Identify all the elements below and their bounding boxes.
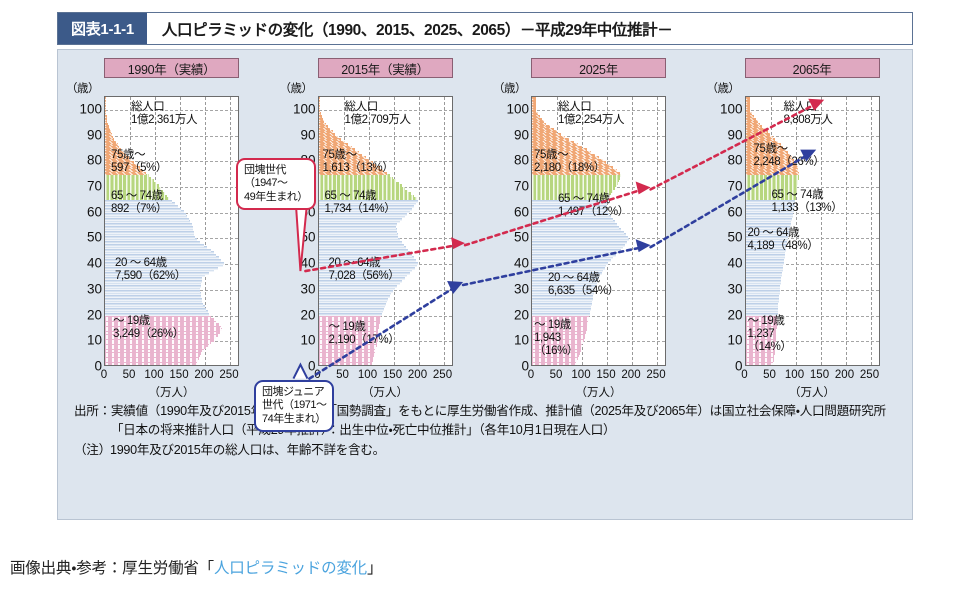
- pyramid-age-bar: [746, 128, 766, 131]
- pyramid-age-bar: [105, 341, 211, 344]
- caption-suffix: 」: [367, 560, 382, 577]
- x-axis-unit: （万人）: [149, 384, 195, 400]
- pyramid-age-bar: [746, 138, 776, 141]
- pyramid-age-bar: [532, 184, 617, 187]
- pyramid-age-bar: [319, 123, 326, 126]
- pyramid-age-bar: [319, 238, 400, 241]
- pyramid-age-bar: [105, 182, 156, 185]
- pyramid-age-bar: [105, 118, 107, 121]
- pyramid-age-bar: [746, 254, 785, 257]
- pyramid-age-bar: [319, 354, 375, 357]
- total-population-label: 総人口 8,808万人: [784, 101, 833, 127]
- pyramid-age-bar: [532, 115, 540, 118]
- pyramid-age-bar: [532, 123, 546, 126]
- vertical-gridline: [657, 97, 658, 365]
- x-axis-unit: （万人）: [362, 384, 408, 400]
- x-tick-label: 50: [336, 369, 349, 381]
- y-tick-label: 90: [276, 127, 316, 142]
- y-tick-label: 70: [703, 179, 743, 194]
- pyramid-age-bar: [746, 274, 782, 277]
- pyramid-age-bar: [105, 177, 151, 180]
- pyramid-age-bar: [105, 244, 204, 247]
- y-tick-label: 40: [62, 256, 102, 271]
- age-group-label: 20 ～ 64歳 4,189（48%）: [748, 227, 819, 253]
- note-label: （注）: [74, 441, 110, 460]
- source-text: 実績値（1990年及び2015年）は総務省「国勢調査」をもとに厚生労働省作成、推…: [111, 402, 898, 440]
- pyramid-age-bar: [532, 107, 536, 110]
- y-tick-label: 40: [276, 256, 316, 271]
- pyramid-age-bar: [319, 112, 322, 115]
- pyramid-age-bar: [746, 218, 793, 221]
- pyramid-age-bar: [746, 298, 779, 301]
- pyramid-age-bar: [746, 295, 780, 298]
- x-tick-label: 250: [433, 369, 452, 381]
- pyramid-age-bar: [319, 241, 402, 244]
- pyramid-panel: 2025年（歳）1009080706050403020100総人口 1億2,25…: [485, 56, 699, 401]
- pyramid-age-bar: [532, 143, 578, 146]
- pyramid-age-bar: [532, 246, 623, 249]
- pyramid-age-bar: [319, 233, 398, 236]
- pyramid-age-bar: [532, 120, 544, 123]
- x-axis: 050100150200250（万人）: [531, 369, 666, 403]
- pyramid-age-bar: [532, 112, 538, 115]
- y-tick-label: 100: [703, 101, 743, 116]
- caption-link[interactable]: 人口ピラミッドの変化: [214, 560, 367, 577]
- pyramid-age-bar: [532, 105, 536, 108]
- pyramid-age-bar: [105, 128, 110, 131]
- y-tick-label: 10: [489, 333, 529, 348]
- y-tick-label: 20: [62, 307, 102, 322]
- pyramid-age-bar: [319, 305, 385, 308]
- pyramid-age-bar: [319, 292, 392, 295]
- age-group-label: 75歳～ 1,613（13%）: [323, 149, 394, 175]
- pyramid-age-bar: [532, 177, 620, 180]
- horizontal-gridline: [319, 136, 452, 137]
- pyramid-age-bar: [105, 346, 206, 349]
- total-population-label: 総人口 1億2,361万人: [131, 101, 197, 127]
- pyramid-age-bar: [746, 256, 785, 259]
- pyramid-age-bar: [319, 236, 399, 239]
- pyramid-age-bar: [105, 357, 199, 360]
- y-tick-label: 70: [62, 179, 102, 194]
- pyramid-age-bar: [746, 292, 780, 295]
- figure-body: 1990年（実績）（歳）1009080706050403020100総人口 1億…: [57, 49, 913, 520]
- pyramid-age-bar: [319, 120, 325, 123]
- pyramid-age-bar: [105, 290, 200, 293]
- vertical-gridline: [632, 97, 633, 365]
- pyramid-age-bar: [746, 300, 779, 303]
- y-tick-label: 40: [489, 256, 529, 271]
- age-group-label: ～ 19歳 1,237（14%）: [748, 315, 792, 355]
- pyramid-age-bar: [105, 359, 198, 362]
- y-tick-label: 30: [489, 281, 529, 296]
- pyramid-age-bar: [319, 251, 410, 254]
- pyramid-age-bar: [105, 136, 113, 139]
- y-tick-label: 50: [276, 230, 316, 245]
- pyramid-age-bar: [105, 130, 111, 133]
- pyramid-age-bar: [746, 184, 798, 187]
- pyramid-age-bar: [746, 130, 768, 133]
- pyramid-age-bar: [746, 172, 800, 175]
- pyramid-age-bar: [532, 231, 624, 234]
- y-tick-label: 30: [62, 281, 102, 296]
- pyramid-age-bar: [746, 97, 750, 100]
- vertical-gridline: [821, 97, 822, 365]
- vertical-gridline: [230, 97, 231, 365]
- pyramid-age-bar: [746, 359, 774, 362]
- pyramid-age-bar: [532, 308, 591, 311]
- pyramid-age-bar: [532, 182, 618, 185]
- y-tick-label: 100: [276, 101, 316, 116]
- total-population-label: 総人口 1億2,709万人: [345, 101, 411, 127]
- pyramid-age-bar: [746, 120, 758, 123]
- pyramid-age-bar: [532, 226, 619, 229]
- pyramid-age-bar: [746, 285, 781, 288]
- panel-header-2: 2015年（実績）: [318, 58, 453, 78]
- pyramid-age-bar: [105, 352, 201, 355]
- y-tick-label: 90: [489, 127, 529, 142]
- y-tick-label: 50: [703, 230, 743, 245]
- pyramid-age-bar: [105, 123, 108, 126]
- pyramid-age-bar: [746, 107, 750, 110]
- pyramid-age-bar: [319, 102, 321, 105]
- x-tick-label: 100: [358, 369, 377, 381]
- pyramid-age-bar: [532, 256, 613, 259]
- pyramid-age-bar: [319, 223, 398, 226]
- pyramid-age-bar: [319, 179, 397, 182]
- pyramid-age-bar: [319, 105, 321, 108]
- x-tick-label: 150: [383, 369, 402, 381]
- pyramid-age-bar: [746, 277, 782, 280]
- pyramid-age-bar: [532, 254, 616, 257]
- y-tick-label: 60: [703, 204, 743, 219]
- pyramid-age-bar: [319, 177, 394, 180]
- x-axis: 050100150200250（万人）: [318, 369, 453, 403]
- pyramid-age-bar: [105, 287, 200, 290]
- pyramid-age-bar: [532, 313, 590, 316]
- pyramid-age-bar: [319, 115, 323, 118]
- pyramid-age-bar: [532, 100, 536, 103]
- pyramid-age-bar: [105, 285, 201, 288]
- pyramid-age-bar: [532, 310, 590, 313]
- pyramid-age-bar: [319, 184, 403, 187]
- pyramid-age-bar: [319, 182, 400, 185]
- age-axis-unit: （歳）: [66, 80, 99, 96]
- y-tick-label: 20: [276, 307, 316, 322]
- pyramid-age-bar: [746, 264, 784, 267]
- pyramid-age-bar: [746, 357, 775, 360]
- pyramid-age-bar: [746, 177, 799, 180]
- pyramid-age-bar: [105, 298, 202, 301]
- pyramid-age-bar: [746, 269, 783, 272]
- age-group-label: 75歳～ 2,248（26%）: [754, 143, 825, 169]
- pyramid-age-bar: [532, 223, 617, 226]
- pyramid-age-bar: [532, 228, 621, 231]
- y-axis: 1009080706050403020100: [699, 96, 743, 366]
- x-tick-label: 50: [123, 369, 136, 381]
- pyramid-age-bar: [532, 267, 605, 270]
- y-tick-label: 90: [703, 127, 743, 142]
- age-axis-unit: （歳）: [280, 80, 313, 96]
- pyramid-age-bar: [105, 231, 194, 234]
- pyramid-panel: 2015年（実績）（歳）1009080706050403020100総人口 1億…: [272, 56, 486, 401]
- pyramid-age-bar: [746, 220, 792, 223]
- x-tick-label: 200: [621, 369, 640, 381]
- pyramid-age-bar: [746, 123, 760, 126]
- pyramid-age-bar: [105, 303, 203, 306]
- pyramid-age-bar: [532, 244, 625, 247]
- pyramid-age-bar: [746, 310, 778, 313]
- y-axis: 1009080706050403020100: [485, 96, 529, 366]
- y-axis: 1009080706050403020100: [272, 96, 316, 366]
- y-tick-label: 80: [489, 153, 529, 168]
- pyramid-age-bar: [532, 118, 542, 121]
- x-axis: 050100150200250（万人）: [104, 369, 239, 403]
- pyramid-age-bar: [746, 118, 756, 121]
- pyramid-age-bar: [746, 282, 781, 285]
- pyramid-age-bar: [319, 357, 374, 360]
- vertical-gridline: [419, 97, 420, 365]
- pyramid-age-bar: [105, 308, 206, 311]
- note-text: 1990年及び2015年の総人口は、年齢不詳を含む。: [110, 441, 898, 460]
- pyramid-age-bar: [746, 305, 779, 308]
- pyramid-age-bar: [532, 251, 618, 254]
- x-tick-label: 200: [194, 369, 213, 381]
- x-tick-label: 0: [741, 369, 747, 381]
- pyramid-age-bar: [532, 233, 626, 236]
- source-row: 出所： 実績値（1990年及び2015年）は総務省「国勢調査」をもとに厚生労働省…: [74, 402, 898, 440]
- pyramid-age-bar: [319, 362, 373, 365]
- pyramid-age-bar: [746, 287, 781, 290]
- pyramid-age-bar: [532, 305, 591, 308]
- pyramid-age-bar: [319, 110, 321, 113]
- pyramid-age-bar: [746, 136, 773, 139]
- pyramid-age-bar: [319, 125, 328, 128]
- pyramid-age-bar: [532, 187, 615, 190]
- y-tick-label: 30: [276, 281, 316, 296]
- x-axis: 050100150200250（万人）: [745, 369, 880, 403]
- pyramid-age-bar: [105, 112, 106, 115]
- y-tick-label: 80: [703, 153, 743, 168]
- image-caption: 画像出典・参考：厚生労働省「人口ピラミッドの変化」: [10, 556, 382, 578]
- pyramid-age-bar: [319, 100, 321, 103]
- pyramid-age-bar: [532, 359, 577, 362]
- age-group-label: 65 ～ 74歳 1,734（14%）: [325, 190, 396, 216]
- pyramid-age-bar: [319, 143, 349, 146]
- pyramid-age-bar: [319, 290, 393, 293]
- pyramid-age-bar: [532, 141, 574, 144]
- pyramid-age-bar: [532, 241, 627, 244]
- figure-number-tag: 図表1-1-1: [58, 13, 147, 44]
- x-tick-label: 100: [785, 369, 804, 381]
- pyramid-age-bar: [532, 97, 536, 100]
- pyramid-age-bar: [319, 244, 404, 247]
- pyramid-age-bar: [532, 220, 615, 223]
- pyramid-age-bar: [105, 110, 106, 113]
- pyramid-age-bar: [319, 249, 408, 252]
- pyramid-age-bar: [746, 303, 779, 306]
- pyramid-age-bar: [532, 264, 606, 267]
- y-tick-label: 100: [489, 101, 529, 116]
- pyramid-age-bar: [319, 295, 390, 298]
- y-tick-label: 0: [703, 359, 743, 374]
- pyramid-age-bar: [105, 241, 200, 244]
- pyramid-age-bar: [105, 226, 193, 229]
- pyramid-age-bar: [319, 303, 386, 306]
- x-tick-label: 100: [571, 369, 590, 381]
- y-tick-label: 90: [62, 127, 102, 142]
- pyramid-age-bar: [105, 238, 197, 241]
- pyramid-age-bar: [105, 220, 190, 223]
- age-group-label: ～ 19歳 3,249（26%）: [113, 315, 184, 341]
- pyramid-age-bar: [105, 143, 118, 146]
- age-group-label: 20 ～ 64歳 6,635（54%）: [548, 272, 619, 298]
- pyramid-age-bar: [746, 262, 784, 265]
- pyramid-age-bar: [105, 310, 208, 313]
- pyramid-age-bar: [746, 215, 793, 218]
- pyramid-age-bar: [319, 141, 345, 144]
- pyramid-age-bar: [105, 246, 207, 249]
- pyramid-age-bar: [532, 138, 569, 141]
- pyramid-age-bar: [319, 118, 324, 121]
- pyramid-age-bar: [319, 246, 406, 249]
- y-tick-label: 20: [489, 307, 529, 322]
- y-tick-label: 40: [703, 256, 743, 271]
- x-tick-label: 150: [169, 369, 188, 381]
- y-tick-label: 60: [489, 204, 529, 219]
- age-group-label: 20 ～ 64歳 7,028（56%）: [329, 257, 400, 283]
- y-tick-label: 100: [62, 101, 102, 116]
- pyramid-age-bar: [746, 280, 782, 283]
- pyramid-age-bar: [319, 226, 397, 229]
- pyramid-age-bar: [319, 298, 389, 301]
- panel-header-3: 2025年: [531, 58, 666, 78]
- pyramid-age-bar: [319, 352, 375, 355]
- pyramid-age-bar: [532, 136, 565, 139]
- pyramid-age-bar: [105, 300, 202, 303]
- pyramid-age-bar: [746, 115, 755, 118]
- vertical-gridline: [846, 97, 847, 365]
- pyramid-age-bar: [105, 179, 154, 182]
- caption-prefix: 画像出典・参考：厚生労働省「: [10, 560, 214, 577]
- pyramid-age-bar: [532, 128, 554, 131]
- pyramid-age-bar: [532, 110, 536, 113]
- pyramid-age-bar: [532, 133, 561, 136]
- x-tick-label: 250: [646, 369, 665, 381]
- pyramid-age-bar: [532, 236, 628, 239]
- pyramid-age-bar: [105, 184, 159, 187]
- pyramid-age-bar: [105, 292, 201, 295]
- age-group-label: 20 ～ 64歳 7,590（62%）: [115, 257, 186, 283]
- x-axis-unit: （万人）: [576, 384, 622, 400]
- total-population-label: 総人口 1億2,254万人: [558, 101, 624, 127]
- panel-header-1: 1990年（実績）: [104, 58, 239, 78]
- pyramid-age-bar: [319, 138, 342, 141]
- y-tick-label: 20: [703, 307, 743, 322]
- y-tick-label: 70: [489, 179, 529, 194]
- pyramid-age-bar: [319, 218, 403, 221]
- age-group-label: 65 ～ 74歳 1,497（12%）: [558, 193, 629, 219]
- x-tick-label: 150: [596, 369, 615, 381]
- pyramid-age-bar: [105, 141, 116, 144]
- pyramid-age-bar: [105, 233, 194, 236]
- x-tick-label: 150: [810, 369, 829, 381]
- pyramid-age-bar: [105, 218, 189, 221]
- pyramid-age-bar: [105, 97, 106, 100]
- population-pyramid-plot: 総人口 1億2,709万人75歳～ 1,613（13%）65 ～ 74歳 1,7…: [318, 96, 453, 366]
- y-tick-label: 50: [489, 230, 529, 245]
- y-tick-label: 50: [62, 230, 102, 245]
- pyramid-age-bar: [105, 305, 205, 308]
- y-tick-label: 10: [62, 333, 102, 348]
- panel-header-4: 2065年: [745, 58, 880, 78]
- age-group-label: 75歳～ 2,180（18%）: [534, 149, 605, 175]
- pyramid-age-bar: [746, 179, 799, 182]
- pyramid-age-bar: [319, 313, 382, 316]
- y-tick-label: 0: [62, 359, 102, 374]
- callout-dankai-generation: 団塊世代（1947～49年生まれ）: [236, 158, 316, 210]
- age-axis-unit: （歳）: [493, 80, 526, 96]
- y-tick-label: 60: [62, 204, 102, 219]
- x-tick-label: 50: [763, 369, 776, 381]
- pyramid-age-bar: [105, 362, 197, 365]
- pyramid-age-bar: [532, 238, 629, 241]
- callout-dankai-junior-generation: 団塊ジュニア世代（1971～74年生まれ）: [254, 380, 334, 432]
- pyramid-age-bar: [105, 236, 195, 239]
- pyramid-age-bar: [105, 344, 209, 347]
- age-group-label: ～ 19歳 1,943（16%）: [534, 319, 578, 359]
- pyramid-age-bar: [319, 133, 335, 136]
- pyramid-age-bar: [746, 308, 779, 311]
- pyramid-age-bar: [746, 125, 763, 128]
- pyramid-age-bar: [746, 182, 798, 185]
- pyramid-age-bar: [746, 362, 774, 365]
- pyramid-age-bar: [746, 267, 783, 270]
- horizontal-gridline: [105, 136, 238, 137]
- pyramid-age-bar: [105, 102, 106, 105]
- pyramid-age-bar: [105, 115, 107, 118]
- pyramid-age-bar: [105, 295, 201, 298]
- pyramid-age-bar: [319, 316, 381, 319]
- pyramid-panel: 2065年（歳）1009080706050403020100総人口 8,808万…: [699, 56, 913, 401]
- pyramid-age-bar: [105, 133, 112, 136]
- pyramid-panels: 1990年（実績）（歳）1009080706050403020100総人口 1億…: [58, 56, 912, 401]
- pyramid-age-bar: [105, 249, 211, 252]
- pyramid-age-bar: [319, 136, 338, 139]
- pyramid-age-bar: [319, 220, 400, 223]
- population-pyramid-plot: 総人口 1億2,254万人75歳～ 2,180（18%）65 ～ 74歳 1,4…: [531, 96, 666, 366]
- pyramid-age-bar: [532, 262, 608, 265]
- pyramid-age-bar: [746, 223, 791, 226]
- age-group-label: 75歳～ 597（5%）: [111, 149, 167, 175]
- pyramid-age-bar: [319, 285, 398, 288]
- pyramid-age-bar: [746, 259, 785, 262]
- pyramid-age-bar: [746, 105, 750, 108]
- pyramid-age-bar: [105, 228, 193, 231]
- age-group-label: 65 ～ 74歳 1,133（13%）: [772, 189, 843, 215]
- pyramid-age-bar: [532, 125, 550, 128]
- pyramid-age-bar: [746, 174, 800, 177]
- source-label: 出所：: [74, 402, 111, 440]
- pyramid-age-bar: [746, 133, 771, 136]
- x-tick-label: 250: [219, 369, 238, 381]
- pyramid-age-bar: [319, 130, 333, 133]
- pyramid-age-bar: [532, 303, 592, 306]
- x-tick-label: 100: [144, 369, 163, 381]
- vertical-gridline: [444, 97, 445, 365]
- y-tick-label: 0: [489, 359, 529, 374]
- pyramid-age-bar: [746, 102, 750, 105]
